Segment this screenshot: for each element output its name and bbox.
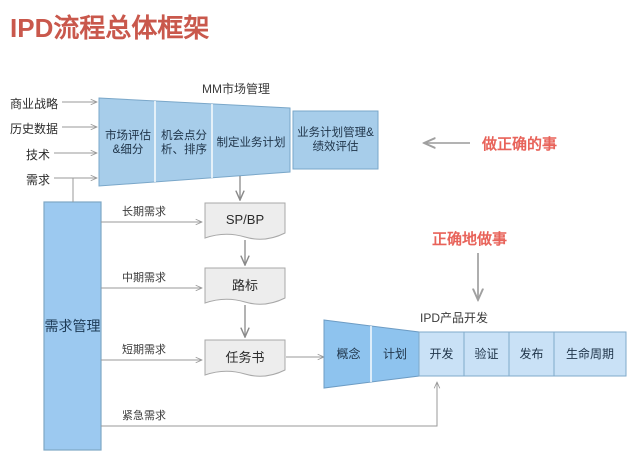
mm-stage-business-plan[interactable]: 制定业务计划 bbox=[216, 114, 286, 172]
document-spbp[interactable]: SP/BP bbox=[205, 203, 285, 235]
input-arrows bbox=[54, 102, 97, 178]
annotation-do-things-right: 正确地做事 bbox=[432, 228, 507, 249]
input-label-history: 历史数据 bbox=[10, 120, 58, 137]
flow-label-short-term: 短期需求 bbox=[122, 341, 166, 357]
ipd-stage-release[interactable]: 发布 bbox=[509, 332, 554, 376]
diagram-canvas: IPD流程总体框架 bbox=[0, 0, 636, 462]
ipd-stage-verification[interactable]: 验证 bbox=[464, 332, 509, 376]
ipd-stage-plan[interactable]: 计划 bbox=[372, 332, 418, 376]
mm-stage-opportunity-analysis[interactable]: 机会点分析、排序 bbox=[158, 112, 210, 174]
requirement-management-label[interactable]: 需求管理 bbox=[44, 202, 101, 450]
ipd-group-label: IPD产品开发 bbox=[420, 309, 488, 326]
flow-label-long-term: 长期需求 bbox=[122, 203, 166, 219]
annotation-do-right-things: 做正确的事 bbox=[482, 133, 557, 154]
input-label-requirement: 需求 bbox=[26, 171, 50, 188]
requirement-flow-arrows bbox=[101, 222, 437, 426]
input-label-strategy: 商业战略 bbox=[10, 95, 58, 112]
ipd-stage-lifecycle[interactable]: 生命周期 bbox=[554, 332, 626, 376]
document-task-book[interactable]: 任务书 bbox=[205, 340, 285, 372]
flow-label-urgent: 紧急需求 bbox=[122, 407, 166, 423]
ipd-stage-development[interactable]: 开发 bbox=[419, 332, 464, 376]
ipd-stage-concept[interactable]: 概念 bbox=[326, 332, 371, 376]
document-roadmap[interactable]: 路标 bbox=[205, 268, 285, 300]
mm-group-label: MM市场管理 bbox=[202, 80, 270, 97]
mm-stage-market-assessment[interactable]: 市场评估&细分 bbox=[103, 110, 153, 176]
flow-label-mid-term: 中期需求 bbox=[122, 269, 166, 285]
input-label-technology: 技术 bbox=[26, 146, 50, 163]
mm-stage-plan-management[interactable]: 业务计划管理&绩效评估 bbox=[295, 113, 376, 167]
